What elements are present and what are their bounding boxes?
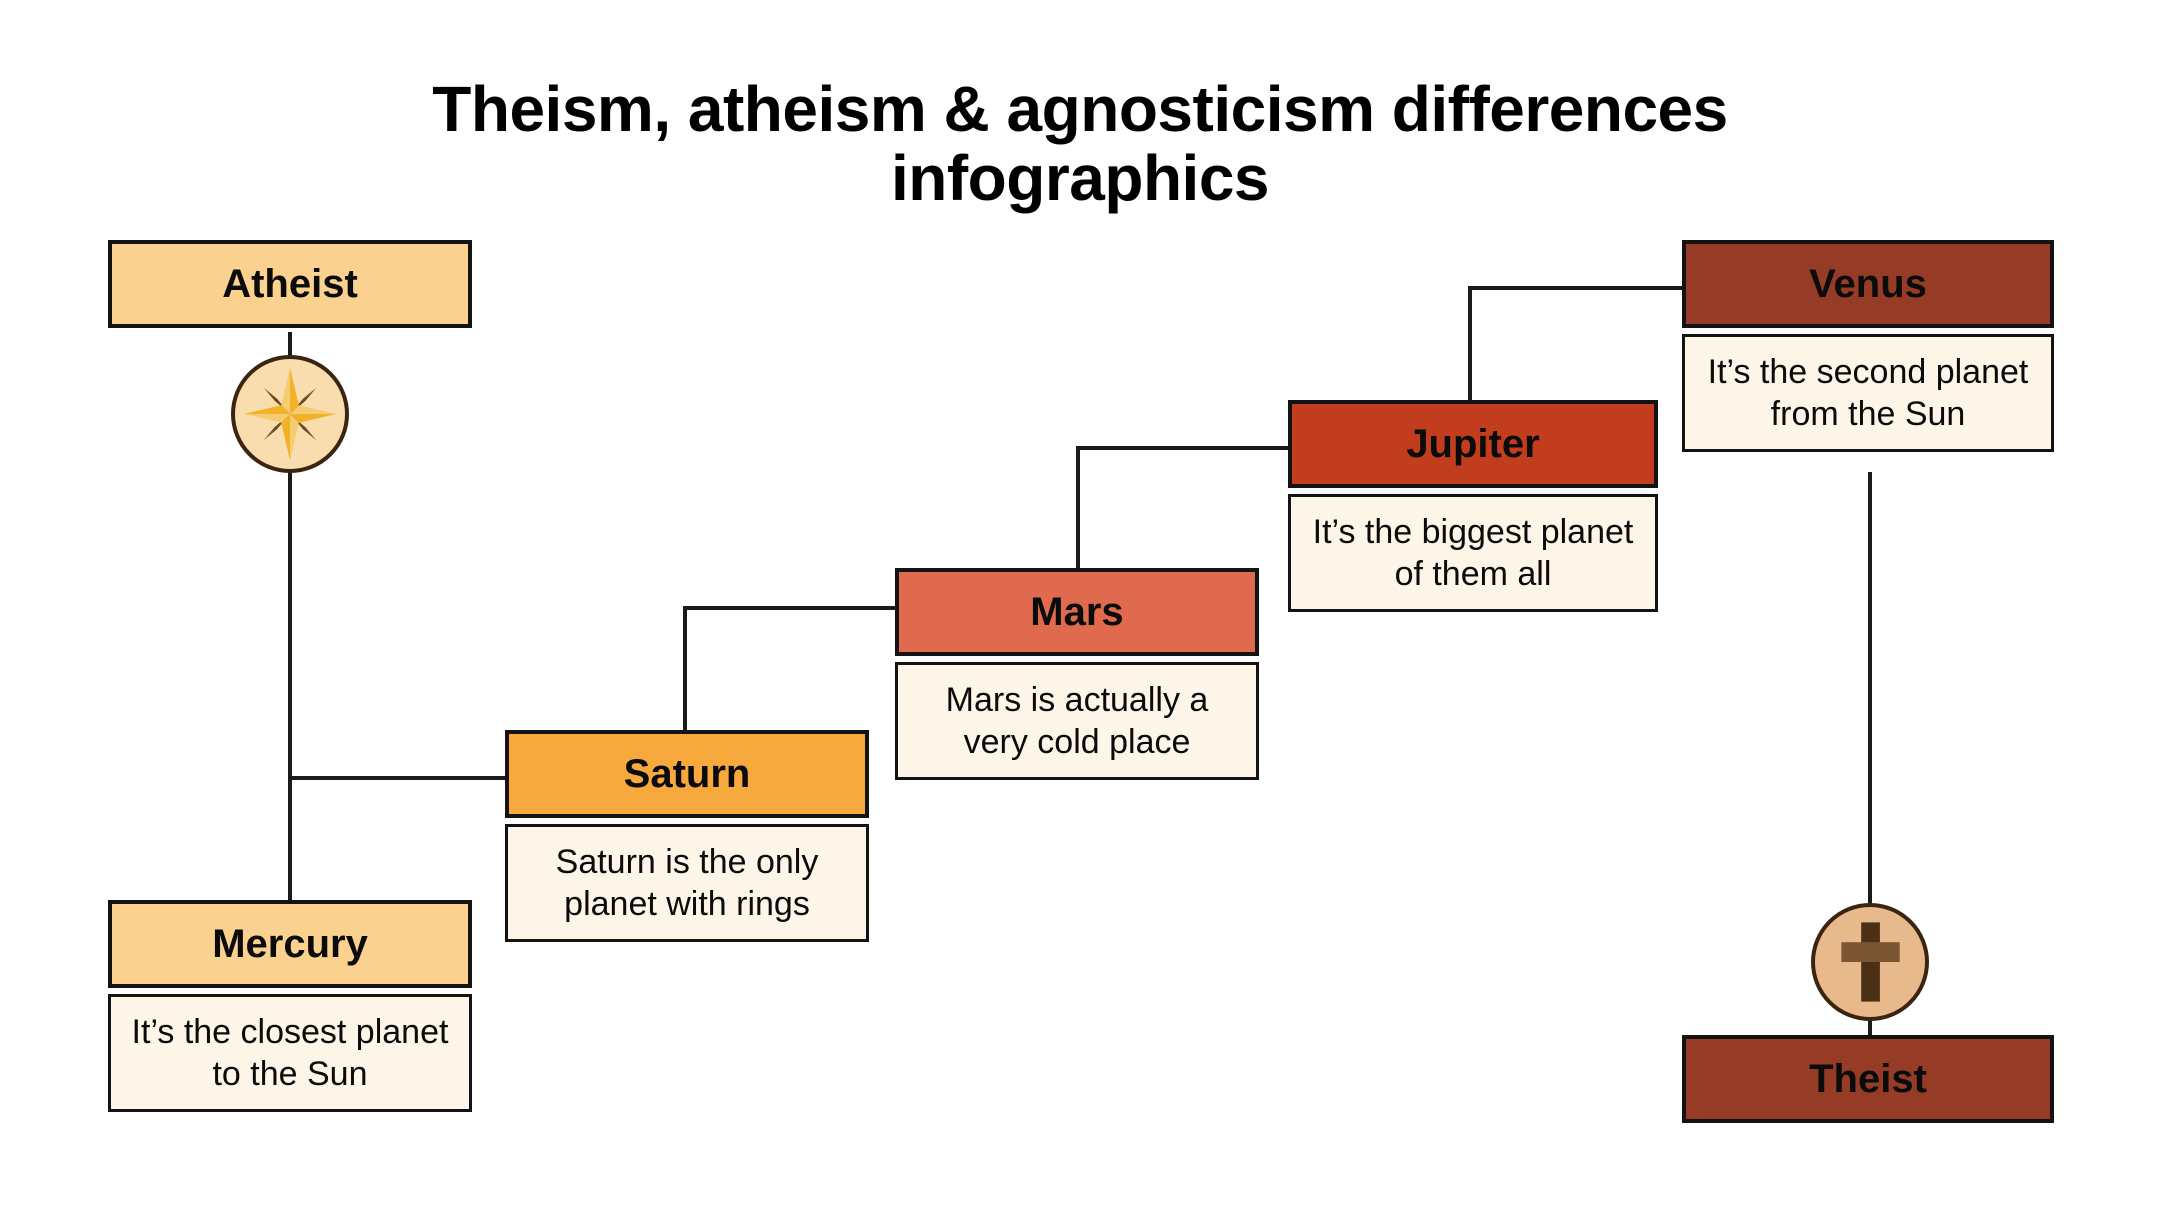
node-mercury-desc-text: It’s the closest planet to the Sun [125,1011,455,1096]
node-venus-description: It’s the second planet from the Sun [1682,334,2054,452]
node-venus-header[interactable]: Venus [1682,240,2054,328]
node-mars-label: Mars [1030,590,1123,635]
node-jupiter-desc-text: It’s the biggest planet of them all [1305,511,1641,596]
cross-icon [1811,903,1929,1021]
node-mercury[interactable]: Mercury It’s the closest planet to the S… [108,900,472,1112]
node-venus-desc-text: It’s the second planet from the Sun [1699,351,2037,436]
node-saturn-label: Saturn [624,752,751,797]
node-jupiter-header[interactable]: Jupiter [1288,400,1658,488]
connector-jupiter-to-venus [1470,288,1682,400]
node-mercury-header[interactable]: Mercury [108,900,472,988]
node-theist-label: Theist [1809,1057,1927,1102]
node-mars-description: Mars is actually a very cold place [895,662,1259,780]
cross-glyph [1815,907,1925,1017]
node-jupiter-label: Jupiter [1406,422,1539,467]
node-mercury-label: Mercury [212,922,368,967]
connector-mars-to-jupiter [1078,448,1288,568]
node-mars[interactable]: Mars Mars is actually a very cold place [895,568,1259,780]
node-atheist[interactable]: Atheist [108,240,472,328]
compass-rose-glyph [235,359,345,469]
node-mercury-description: It’s the closest planet to the Sun [108,994,472,1112]
node-saturn[interactable]: Saturn Saturn is the only planet with ri… [505,730,869,942]
node-atheist-label: Atheist [222,262,358,307]
node-saturn-description: Saturn is the only planet with rings [505,824,869,942]
node-jupiter[interactable]: Jupiter It’s the biggest planet of them … [1288,400,1658,612]
node-venus-label: Venus [1809,262,1927,307]
compass-rose-icon [231,355,349,473]
node-mars-header[interactable]: Mars [895,568,1259,656]
node-atheist-header[interactable]: Atheist [108,240,472,328]
connector-saturn-to-mars [685,608,895,730]
node-saturn-desc-text: Saturn is the only planet with rings [522,841,852,926]
infographic-canvas: Theism, atheism & agnosticism difference… [0,0,2160,1215]
node-theist-header[interactable]: Theist [1682,1035,2054,1123]
node-venus[interactable]: Venus It’s the second planet from the Su… [1682,240,2054,452]
node-theist[interactable]: Theist [1682,1035,2054,1123]
node-jupiter-description: It’s the biggest planet of them all [1288,494,1658,612]
node-mars-desc-text: Mars is actually a very cold place [912,679,1242,764]
node-saturn-header[interactable]: Saturn [505,730,869,818]
